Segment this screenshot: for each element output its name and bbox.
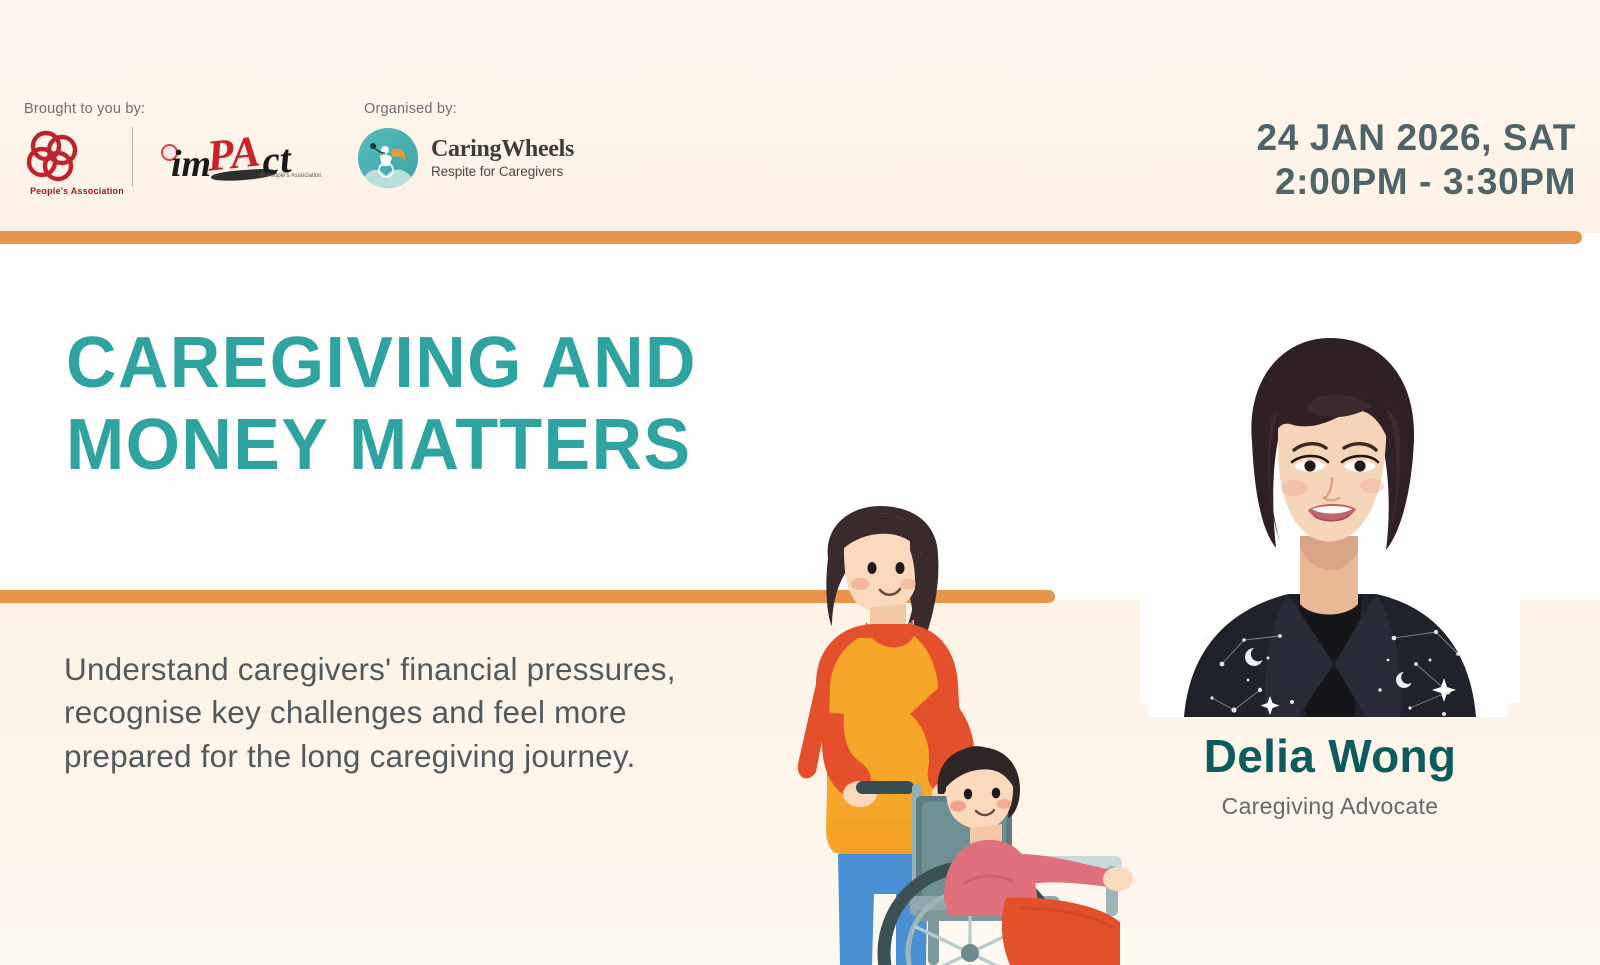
speaker-role: Caregiving Advocate (1150, 793, 1510, 820)
event-datetime: 24 JAN 2026, SAT 2:00PM - 3:30PM (1257, 116, 1576, 203)
peoples-association-logo-icon: People's Association (22, 126, 84, 188)
caregiver-wheelchair-illustration (720, 498, 1150, 965)
title-line-2: MONEY MATTERS (66, 404, 842, 486)
organised-by-label: Organised by: (364, 101, 457, 117)
logo-divider-line (132, 127, 133, 187)
speaker-name: Delia Wong (1150, 733, 1510, 779)
event-description: Understand caregivers' financial pressur… (64, 648, 744, 778)
speaker-portrait-photo (1148, 292, 1508, 717)
event-date: 24 JAN 2026, SAT (1257, 116, 1576, 160)
top-orange-divider-bar (0, 231, 1582, 244)
event-poster: Brought to you by: Organised by: People'… (0, 0, 1600, 965)
impact-logo-icon: im PA ct @ People's Association (155, 126, 305, 188)
page-title: CAREGIVING AND MONEY MATTERS (66, 322, 842, 486)
title-line-1: CAREGIVING AND (66, 322, 842, 404)
caringwheels-badge-icon (358, 128, 418, 188)
caringwheels-wordmark: CaringWheels Respite for Caregivers (431, 137, 574, 179)
caringwheels-tagline: Respite for Caregivers (431, 164, 574, 179)
event-time: 2:00PM - 3:30PM (1257, 160, 1576, 204)
caringwheels-logo-group: CaringWheels Respite for Caregivers (358, 128, 574, 188)
impact-logo-part-pa: PA (204, 125, 262, 181)
impact-logo-part-im: im (171, 142, 211, 186)
partner-logo-group: People's Association im PA ct @ People's… (22, 126, 305, 188)
impact-logo-tagline: @ People's Association (259, 173, 322, 179)
caringwheels-name: CaringWheels (431, 137, 574, 161)
brought-to-you-by-label: Brought to you by: (24, 101, 145, 117)
peoples-association-caption: People's Association (22, 186, 132, 196)
